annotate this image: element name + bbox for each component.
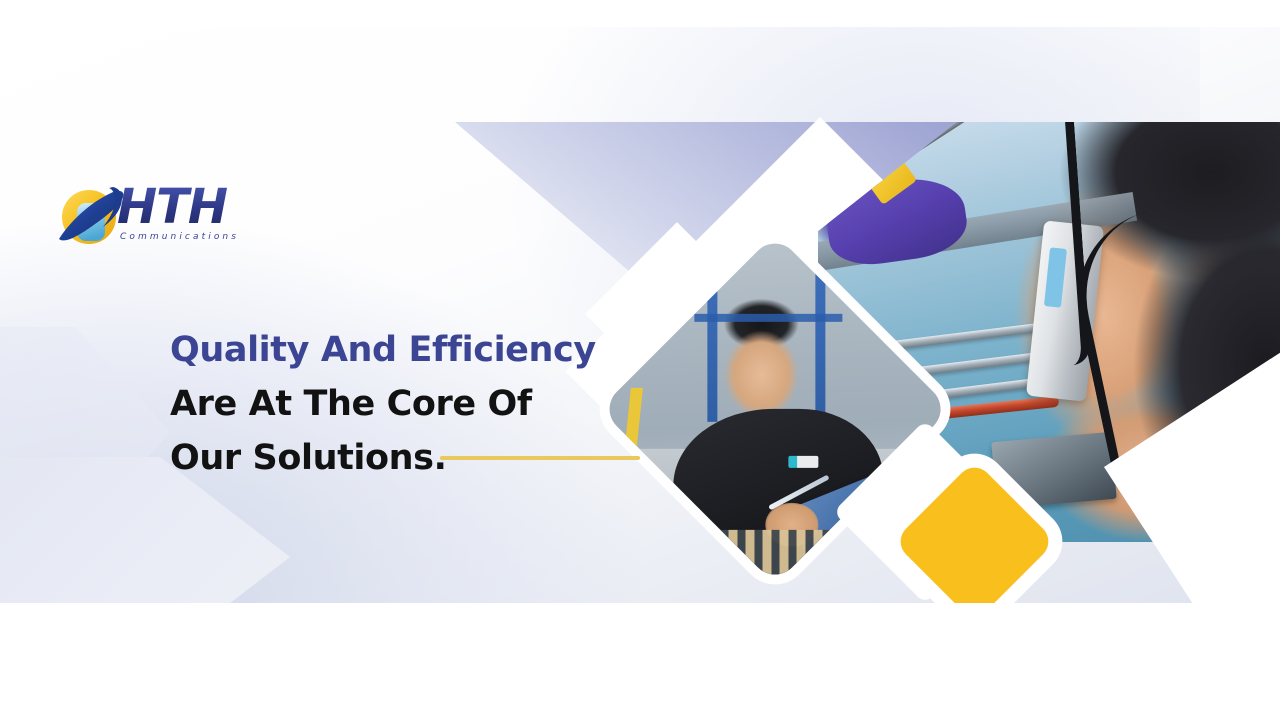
banner-page: HTH Communications Quality And Efficienc…	[0, 0, 1280, 720]
headline-line-2: Are At The Core Of	[170, 377, 690, 431]
brand-wordmark-group: HTH Communications	[117, 183, 287, 242]
hero-banner: HTH Communications Quality And Efficienc…	[0, 27, 1280, 603]
brand-wordmark: HTH	[117, 183, 287, 231]
polo-shirt-hth-logo-icon	[788, 456, 818, 468]
warehouse-rack-post	[815, 267, 825, 422]
headline-accent-rule	[440, 456, 640, 460]
headline-line-1: Quality And Efficiency	[170, 323, 690, 377]
headline-block: Quality And Efficiency Are At The Core O…	[170, 323, 690, 485]
warehouse-rack-beam	[694, 315, 842, 323]
brand-tagline: Communications	[120, 232, 287, 242]
brand-logo[interactable]: HTH Communications	[55, 179, 285, 259]
